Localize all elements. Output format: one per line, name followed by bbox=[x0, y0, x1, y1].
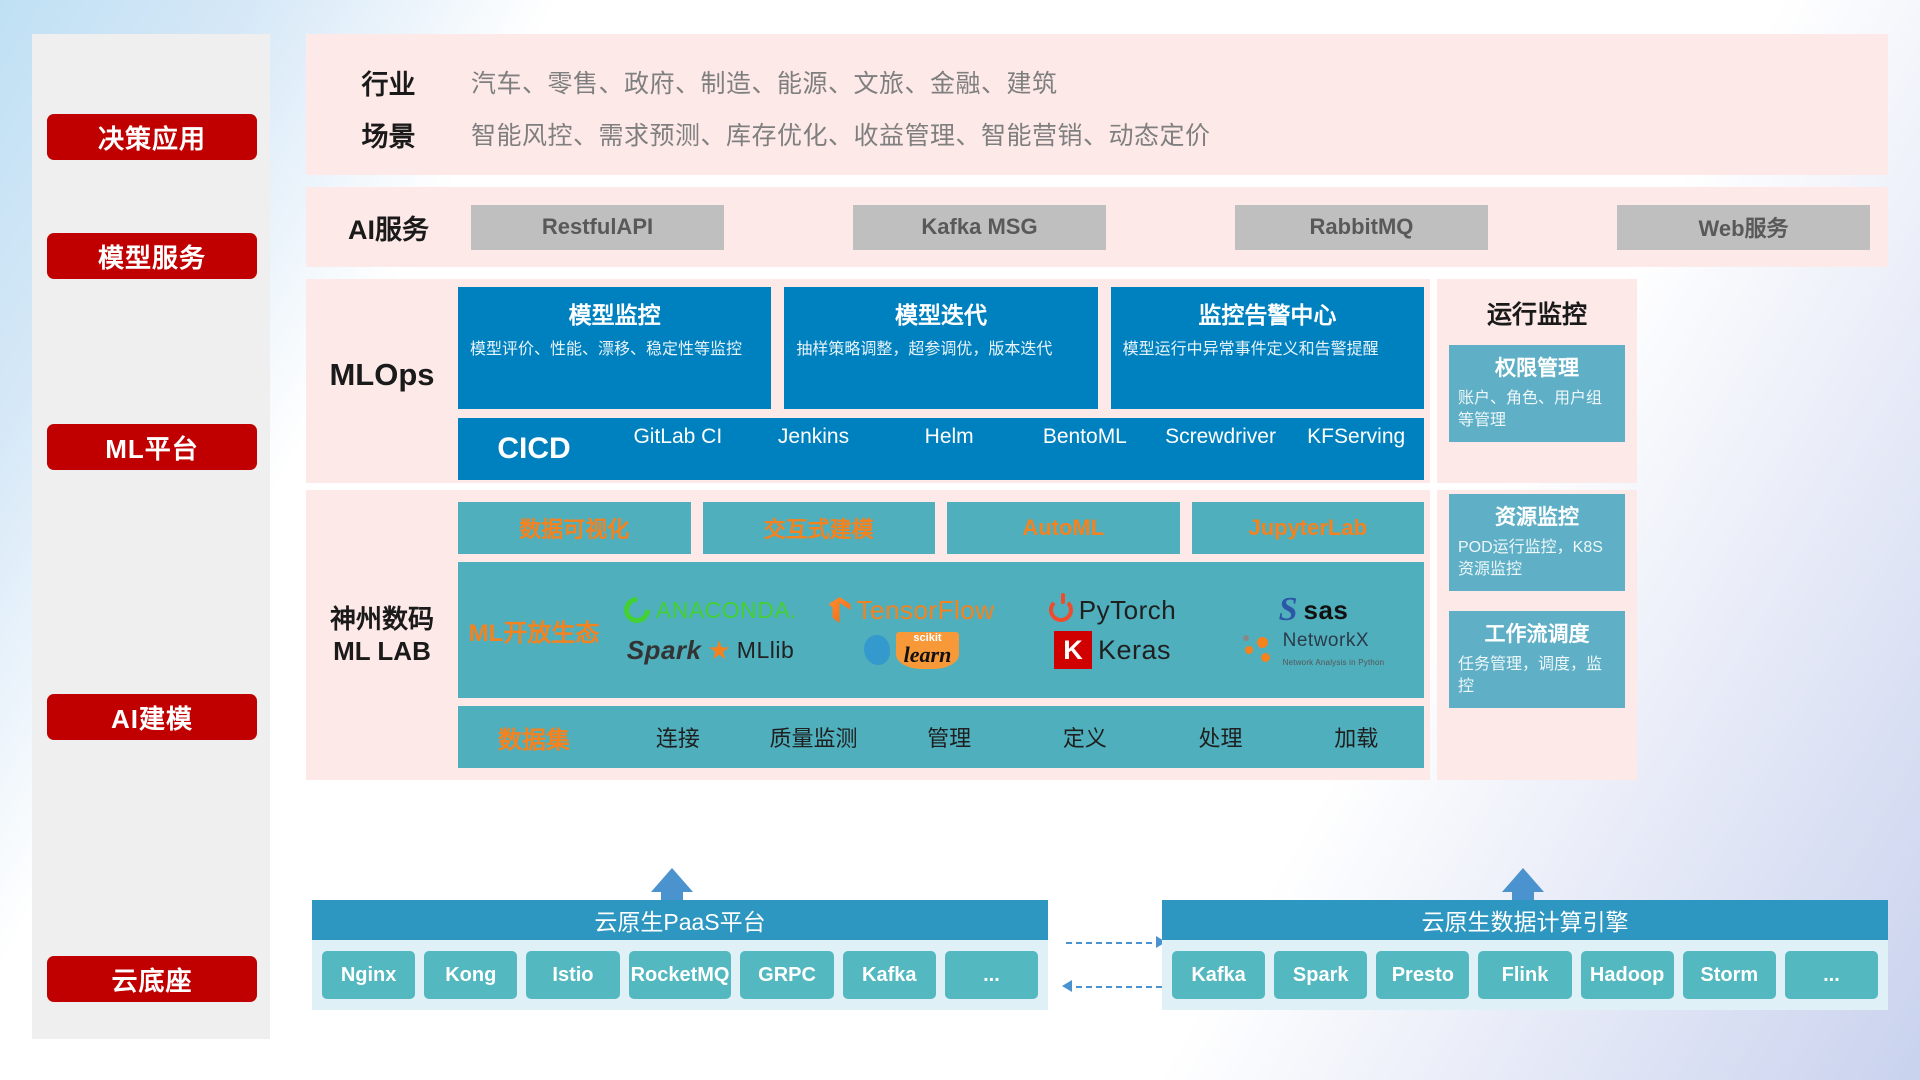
ai-service-chip-rabbitmq[interactable]: RabbitMQ bbox=[1235, 205, 1488, 250]
ml-open-ecosystem-label: ML开放生态 bbox=[458, 613, 610, 648]
cicd-tool-jenkins[interactable]: Jenkins bbox=[746, 426, 882, 472]
dataset-items: 连接 质量监测 管理 定义 处理 加载 bbox=[610, 721, 1424, 753]
keras-label: Keras bbox=[1098, 635, 1171, 666]
ai-service-chip-restfulapi[interactable]: RestfulAPI bbox=[471, 205, 724, 250]
dash-line-top bbox=[1066, 942, 1162, 944]
pytorch-logo: PyTorch bbox=[1049, 595, 1176, 626]
dataset-item-define[interactable]: 定义 bbox=[1017, 721, 1153, 753]
paas-chip-kafka[interactable]: Kafka bbox=[843, 951, 936, 999]
modeling-row: 神州数码 ML LAB 数据可视化 交互式建模 AutoML JupyterLa… bbox=[306, 490, 1888, 780]
tensorflow-mark-icon bbox=[829, 597, 851, 623]
ecosystem-logos: ANACONDA. TensorFlow PyTorch bbox=[610, 590, 1424, 670]
rail-chip-cloud-base[interactable]: 云底座 bbox=[47, 956, 257, 1002]
card-title: 模型监控 bbox=[470, 296, 759, 330]
card-title: 模型迭代 bbox=[796, 296, 1085, 330]
ml-lab-label-line2: ML LAB bbox=[306, 635, 458, 668]
lab-tab-automl[interactable]: AutoML bbox=[947, 502, 1180, 554]
paas-chip-istio[interactable]: Istio bbox=[526, 951, 619, 999]
sas-swoosh-icon: S bbox=[1279, 596, 1298, 623]
scikit-learn-logo: scikit learn bbox=[864, 632, 960, 669]
platform-row: MLOps 模型监控 模型评价、性能、漂移、稳定性等监控 模型迭代 抽样策略调整… bbox=[306, 279, 1888, 483]
cicd-tool-screwdriver[interactable]: Screwdriver bbox=[1153, 426, 1289, 472]
scenario-row: 场景 智能风控、需求预测、库存优化、收益管理、智能营销、动态定价 bbox=[306, 108, 1888, 160]
monitor-card-workflow[interactable]: 工作流调度 任务管理，调度，监控 bbox=[1449, 611, 1625, 708]
card-desc: 账户、角色、用户组等管理 bbox=[1458, 388, 1616, 431]
pytorch-flame-icon bbox=[1049, 598, 1073, 622]
runtime-monitor-panel-lower: 资源监控 POD运行监控，K8S资源监控 工作流调度 任务管理，调度，监控 bbox=[1437, 490, 1637, 780]
ai-service-chip-kafka-msg[interactable]: Kafka MSG bbox=[853, 205, 1106, 250]
keras-logo: K Keras bbox=[1054, 631, 1171, 669]
spacer bbox=[306, 267, 1888, 279]
paas-platform-chips: Nginx Kong Istio RocketMQ GRPC Kafka ... bbox=[312, 940, 1048, 1010]
anaconda-label: ANACONDA. bbox=[656, 597, 797, 624]
paas-platform-column: 云原生PaaS平台 Nginx Kong Istio RocketMQ GRPC… bbox=[312, 900, 1048, 1010]
card-desc: 抽样策略调整，超参调优，版本迭代 bbox=[796, 339, 1085, 361]
sas-label: sas bbox=[1304, 595, 1349, 626]
card-title: 资源监控 bbox=[1458, 501, 1616, 531]
mlops-card-alert-center[interactable]: 监控告警中心 模型运行中异常事件定义和告警提醒 bbox=[1111, 287, 1424, 409]
paas-chip-rocketmq[interactable]: RocketMQ bbox=[629, 951, 732, 999]
paas-chip-more[interactable]: ... bbox=[945, 951, 1038, 999]
data-engine-column: 云原生数据计算引擎 Kafka Spark Presto Flink Hadoo… bbox=[1162, 900, 1888, 1010]
engine-chip-kafka[interactable]: Kafka bbox=[1172, 951, 1265, 999]
cicd-tool-helm[interactable]: Helm bbox=[881, 426, 1017, 472]
card-desc: POD运行监控，K8S资源监控 bbox=[1458, 537, 1616, 580]
arrow-up-left-head bbox=[651, 868, 693, 892]
cicd-row: CICD GitLab CI Jenkins Helm BentoML Scre… bbox=[458, 418, 1424, 480]
lab-tab-data-visualization[interactable]: 数据可视化 bbox=[458, 502, 691, 554]
networkx-sublabel: Network Analysis in Python bbox=[1283, 658, 1385, 667]
engine-chip-hadoop[interactable]: Hadoop bbox=[1581, 951, 1674, 999]
rail-chip-ml-platform[interactable]: ML平台 bbox=[47, 424, 257, 470]
ml-lab-tabs: 数据可视化 交互式建模 AutoML JupyterLab bbox=[458, 502, 1424, 554]
engine-chip-spark[interactable]: Spark bbox=[1274, 951, 1367, 999]
paas-chip-nginx[interactable]: Nginx bbox=[322, 951, 415, 999]
rail-chip-model-service[interactable]: 模型服务 bbox=[47, 233, 257, 279]
dataset-item-connect[interactable]: 连接 bbox=[610, 721, 746, 753]
tensorflow-label: TensorFlow bbox=[857, 595, 995, 626]
ai-service-label: AI服务 bbox=[306, 208, 471, 247]
industry-value: 汽车、零售、政府、制造、能源、文旅、金融、建筑 bbox=[471, 64, 1058, 100]
networkx-logo: NetworkX Network Analysis in Python bbox=[1243, 630, 1385, 670]
dataset-item-quality[interactable]: 质量监测 bbox=[746, 721, 882, 753]
scenario-value: 智能风控、需求预测、库存优化、收益管理、智能营销、动态定价 bbox=[471, 116, 1211, 152]
mlops-card-model-iteration[interactable]: 模型迭代 抽样策略调整，超参调优，版本迭代 bbox=[784, 287, 1097, 409]
spark-star-icon: ★ bbox=[707, 635, 730, 666]
spark-mllib-logo: Spark ★ MLlib bbox=[627, 635, 795, 666]
paas-chip-grpc[interactable]: GRPC bbox=[740, 951, 833, 999]
ai-service-items: RestfulAPI Kafka MSG RabbitMQ Web服务 bbox=[471, 205, 1888, 250]
card-title: 权限管理 bbox=[1458, 352, 1616, 382]
monitor-card-resource[interactable]: 资源监控 POD运行监控，K8S资源监控 bbox=[1449, 494, 1625, 591]
card-desc: 模型运行中异常事件定义和告警提醒 bbox=[1123, 339, 1412, 361]
arrow-left-icon bbox=[1062, 980, 1072, 992]
ai-service-chip-web[interactable]: Web服务 bbox=[1617, 205, 1870, 250]
networkx-label: NetworkX bbox=[1283, 630, 1385, 652]
dataset-label: 数据集 bbox=[458, 720, 610, 755]
sas-logo: S sas bbox=[1279, 595, 1349, 626]
mllib-label: MLlib bbox=[737, 637, 794, 664]
lab-tab-jupyterlab[interactable]: JupyterLab bbox=[1192, 502, 1425, 554]
diagram-canvas: 决策应用 模型服务 ML平台 AI建模 云底座 行业 汽车、零售、政府、制造、能… bbox=[0, 0, 1920, 1080]
data-engine-chips: Kafka Spark Presto Flink Hadoop Storm ..… bbox=[1162, 940, 1888, 1010]
ml-lab-content: 数据可视化 交互式建模 AutoML JupyterLab ML开放生态 ANA… bbox=[458, 494, 1430, 776]
dataset-item-process[interactable]: 处理 bbox=[1153, 721, 1289, 753]
runtime-monitor-panel: 运行监控 权限管理 账户、角色、用户组等管理 bbox=[1437, 279, 1637, 483]
engine-chip-storm[interactable]: Storm bbox=[1683, 951, 1776, 999]
rail-chip-decision-app[interactable]: 决策应用 bbox=[47, 114, 257, 160]
pytorch-label: PyTorch bbox=[1079, 595, 1176, 626]
paas-chip-kong[interactable]: Kong bbox=[424, 951, 517, 999]
main-column: 行业 汽车、零售、政府、制造、能源、文旅、金融、建筑 场景 智能风控、需求预测、… bbox=[306, 34, 1888, 780]
scikit-blob-icon bbox=[864, 635, 890, 665]
ai-service-band: AI服务 RestfulAPI Kafka MSG RabbitMQ Web服务 bbox=[306, 187, 1888, 267]
cicd-tool-gitlab-ci[interactable]: GitLab CI bbox=[610, 426, 746, 472]
networkx-graph-icon bbox=[1243, 635, 1277, 665]
ml-open-ecosystem: ML开放生态 ANACONDA. TensorFlow bbox=[458, 562, 1424, 698]
mlops-cards: 模型监控 模型评价、性能、漂移、稳定性等监控 模型迭代 抽样策略调整，超参调优，… bbox=[458, 287, 1424, 409]
arrow-up-right-head bbox=[1502, 868, 1544, 892]
keras-mark-icon: K bbox=[1054, 631, 1092, 669]
layer-rail: 决策应用 模型服务 ML平台 AI建模 云底座 bbox=[32, 34, 270, 1039]
scikit-card-icon: scikit learn bbox=[896, 632, 960, 669]
mlops-band: MLOps 模型监控 模型评价、性能、漂移、稳定性等监控 模型迭代 抽样策略调整… bbox=[306, 279, 1430, 483]
decision-app-band: 行业 汽车、零售、政府、制造、能源、文旅、金融、建筑 场景 智能风控、需求预测、… bbox=[306, 34, 1888, 175]
cicd-label: CICD bbox=[458, 432, 610, 466]
cicd-tool-kfserving[interactable]: KFServing bbox=[1288, 426, 1424, 472]
anaconda-ring-icon bbox=[618, 592, 655, 629]
cloud-base-section: 云原生PaaS平台 Nginx Kong Istio RocketMQ GRPC… bbox=[306, 880, 1888, 1040]
cloud-link-arrows bbox=[1066, 936, 1162, 996]
dataset-item-load[interactable]: 加载 bbox=[1288, 721, 1424, 753]
ml-lab-label-line1: 神州数码 bbox=[306, 603, 458, 636]
dataset-item-manage[interactable]: 管理 bbox=[881, 721, 1017, 753]
dash-line-bottom bbox=[1066, 986, 1162, 988]
engine-chip-flink[interactable]: Flink bbox=[1478, 951, 1571, 999]
dataset-row: 数据集 连接 质量监测 管理 定义 处理 加载 bbox=[458, 706, 1424, 768]
anaconda-logo: ANACONDA. bbox=[624, 597, 797, 624]
card-desc: 模型评价、性能、漂移、稳定性等监控 bbox=[470, 339, 759, 361]
mlops-card-model-monitor[interactable]: 模型监控 模型评价、性能、漂移、稳定性等监控 bbox=[458, 287, 771, 409]
monitor-card-permission[interactable]: 权限管理 账户、角色、用户组等管理 bbox=[1449, 345, 1625, 442]
tensorflow-logo: TensorFlow bbox=[829, 595, 995, 626]
lab-tab-interactive-modeling[interactable]: 交互式建模 bbox=[703, 502, 936, 554]
cicd-tool-bentoml[interactable]: BentoML bbox=[1017, 426, 1153, 472]
scenario-label: 场景 bbox=[306, 115, 471, 154]
runtime-monitor-title: 运行监控 bbox=[1449, 295, 1625, 331]
engine-chip-presto[interactable]: Presto bbox=[1376, 951, 1469, 999]
spacer bbox=[306, 175, 1888, 187]
paas-platform-title: 云原生PaaS平台 bbox=[312, 900, 1048, 940]
cicd-tools: GitLab CI Jenkins Helm BentoML Screwdriv… bbox=[610, 426, 1424, 472]
networkx-text-group: NetworkX Network Analysis in Python bbox=[1283, 630, 1385, 670]
card-title: 工作流调度 bbox=[1458, 618, 1616, 648]
data-engine-title: 云原生数据计算引擎 bbox=[1162, 900, 1888, 940]
industry-label: 行业 bbox=[306, 63, 471, 102]
card-title: 监控告警中心 bbox=[1123, 296, 1412, 330]
rail-chip-ai-modeling[interactable]: AI建模 bbox=[47, 694, 257, 740]
mlops-label: MLOps bbox=[306, 279, 458, 393]
industry-row: 行业 汽车、零售、政府、制造、能源、文旅、金融、建筑 bbox=[306, 56, 1888, 108]
ml-lab-band: 神州数码 ML LAB 数据可视化 交互式建模 AutoML JupyterLa… bbox=[306, 490, 1430, 780]
ml-lab-label: 神州数码 ML LAB bbox=[306, 603, 458, 668]
spark-label: Spark bbox=[627, 635, 702, 666]
mlops-content: 模型监控 模型评价、性能、漂移、稳定性等监控 模型迭代 抽样策略调整，超参调优，… bbox=[458, 279, 1430, 488]
engine-chip-more[interactable]: ... bbox=[1785, 951, 1878, 999]
learn-label: learn bbox=[904, 642, 952, 667]
card-desc: 任务管理，调度，监控 bbox=[1458, 654, 1616, 697]
